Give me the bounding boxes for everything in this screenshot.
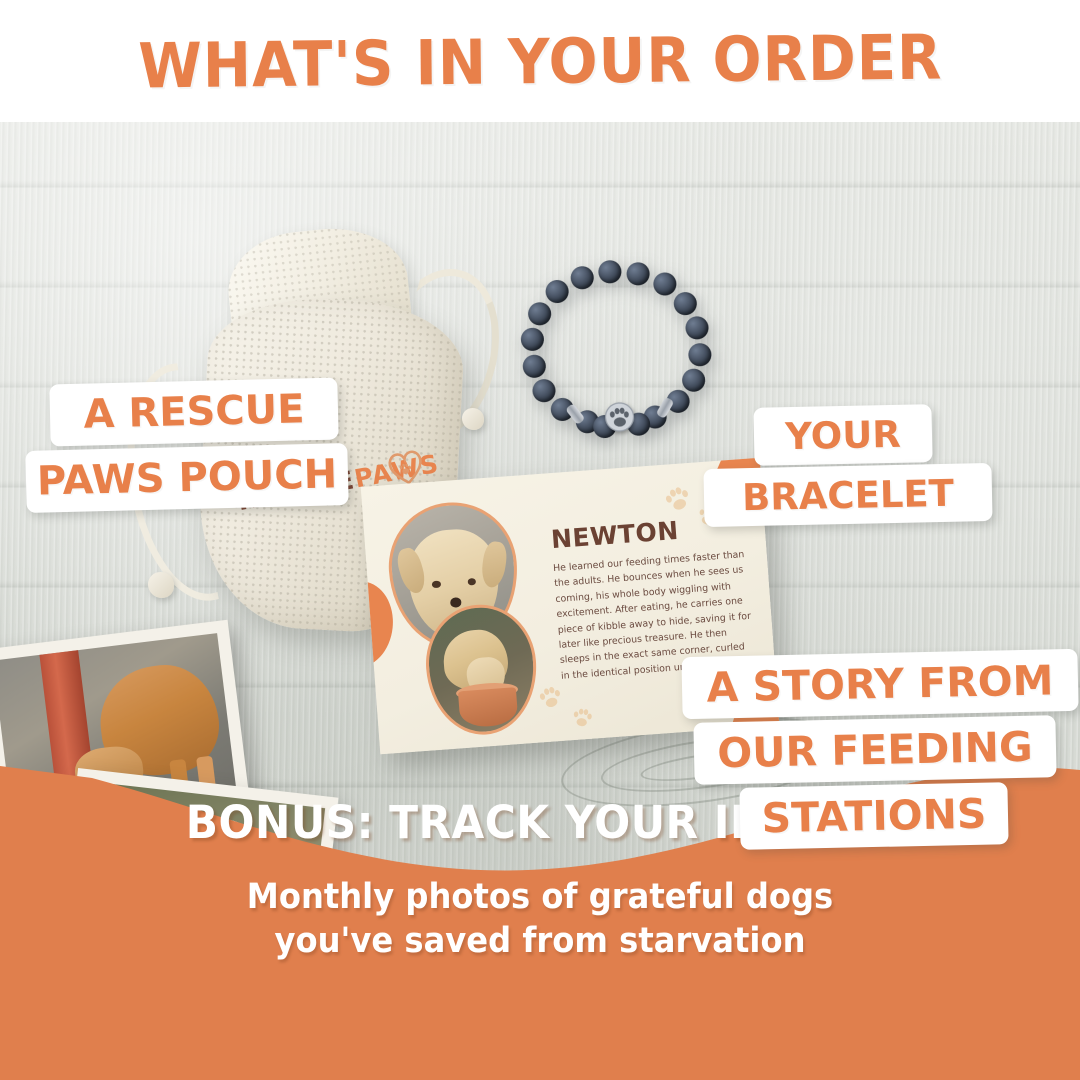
banner-subtitle-line-2: you've saved from starvation — [43, 921, 1037, 961]
callout-story-line-3: STATIONS — [739, 782, 1008, 850]
callout-story-line-1: A STORY FROM — [681, 649, 1078, 719]
product-photo-scene: RESCUEPAWS — [0, 122, 1080, 1080]
pouch-cord-knot — [462, 408, 484, 430]
callout-pouch-line-2: PAWS POUCH — [25, 443, 348, 513]
paw-print-charm-icon — [604, 401, 636, 433]
page-title: WHAT'S IN YOUR ORDER — [138, 20, 943, 102]
postcard-title: NEWTON — [550, 516, 680, 554]
beaded-bracelet — [516, 256, 718, 449]
pouch-cord-knot — [148, 572, 174, 598]
callout-bracelet-line-1: YOUR — [753, 404, 932, 466]
banner-subtitle-line-1: Monthly photos of grateful dogs — [43, 877, 1037, 917]
callout-pouch-line-1: A RESCUE — [49, 377, 338, 446]
header-bar: WHAT'S IN YOUR ORDER — [0, 0, 1080, 122]
callout-bracelet-line-2: BRACELET — [703, 463, 992, 527]
paw-print-icon — [658, 479, 697, 518]
callout-story-line-2: OUR FEEDING — [693, 715, 1056, 785]
order-contents-graphic: WHAT'S IN YOUR ORDER RESCUEPAWS — [0, 0, 1080, 1080]
